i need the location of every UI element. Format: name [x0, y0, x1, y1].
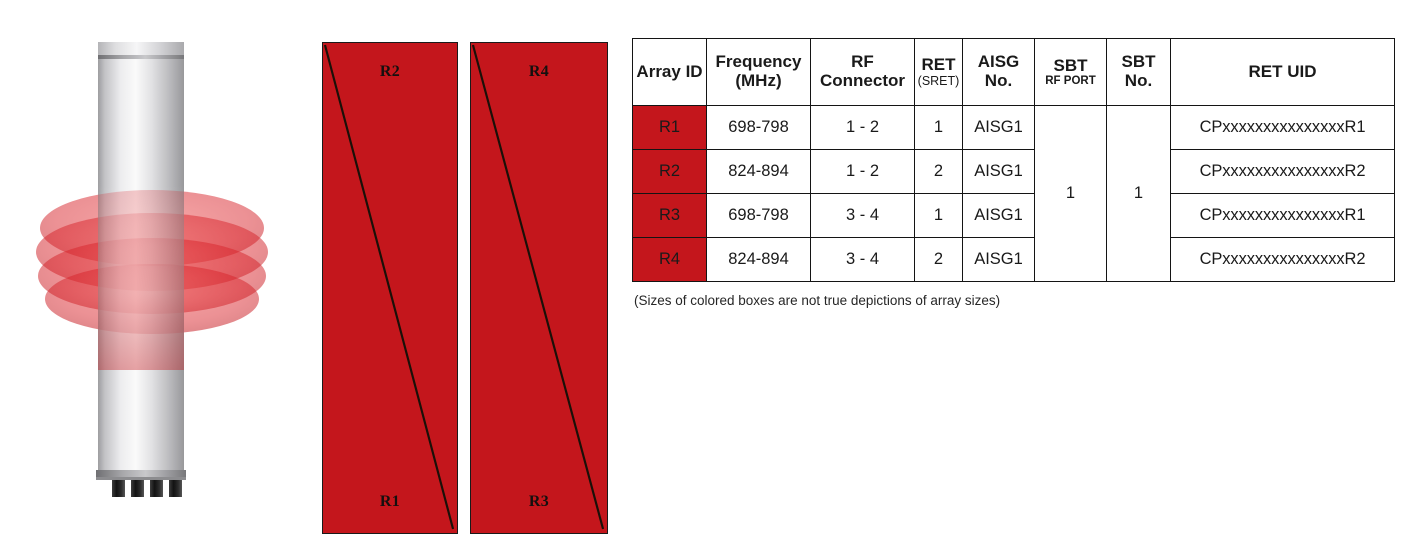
table-row: R3 698-798 3 - 4 1 AISG1 CPxxxxxxxxxxxxx…: [633, 194, 1395, 238]
header-ret-uid: RET UID: [1171, 39, 1395, 106]
header-array-id: Array ID: [633, 39, 707, 106]
header-ret-line1: RET: [922, 55, 956, 74]
array-configuration-table: Array ID Frequency (MHz) RF Connector RE…: [632, 38, 1394, 282]
panel-label-bottom-left: R1: [323, 493, 457, 511]
table-row: R2 824-894 1 - 2 2 AISG1 CPxxxxxxxxxxxxx…: [633, 150, 1395, 194]
table-row: R1 698-798 1 - 2 1 AISG1 1 1 CPxxxxxxxxx…: [633, 106, 1395, 150]
header-sbt-rf-port-line2: RF PORT: [1035, 75, 1106, 89]
cell-aisg-no: AISG1: [963, 106, 1035, 150]
header-sbt-no-line1: SBT: [1122, 52, 1156, 71]
cell-ret: 2: [915, 238, 963, 282]
cell-rf-connector: 3 - 4: [811, 238, 915, 282]
array-panel-left[interactable]: R2 R1: [322, 42, 458, 534]
header-frequency-line1: Frequency: [716, 52, 802, 71]
connector-stub: [169, 480, 182, 497]
table-header-row: Array ID Frequency (MHz) RF Connector RE…: [633, 39, 1395, 106]
header-rf-connector: RF Connector: [811, 39, 915, 106]
table-row: R4 824-894 3 - 4 2 AISG1 CPxxxxxxxxxxxxx…: [633, 238, 1395, 282]
header-ret-uid-label: RET UID: [1249, 62, 1317, 81]
cell-aisg-no: AISG1: [963, 194, 1035, 238]
header-sbt-rf-port-line1: SBT: [1054, 56, 1088, 75]
connector-stub: [150, 480, 163, 497]
cell-ret: 2: [915, 150, 963, 194]
cell-ret-uid: CPxxxxxxxxxxxxxxxR1: [1171, 194, 1395, 238]
panel-label-top-left: R2: [323, 63, 457, 81]
pole-top-cap: [98, 42, 184, 55]
antenna-illustration: [0, 0, 310, 543]
array-panel-right[interactable]: R4 R3: [470, 42, 608, 534]
cell-frequency: 824-894: [707, 238, 811, 282]
panel-label-bottom-right: R3: [471, 493, 607, 511]
pole-bottom-edge: [96, 477, 186, 480]
cell-frequency: 824-894: [707, 150, 811, 194]
config-table: Array ID Frequency (MHz) RF Connector RE…: [632, 38, 1395, 282]
antenna-illustration-svg: [0, 0, 310, 543]
header-sbt-no-line2: No.: [1107, 71, 1170, 91]
cell-aisg-no: AISG1: [963, 238, 1035, 282]
cell-sbt-no-merged: 1: [1107, 106, 1171, 282]
pole-top-band: [98, 55, 184, 59]
cell-array-id: R3: [633, 194, 707, 238]
panel-diagonal-left: [323, 43, 457, 533]
header-rf-connector-line1: RF: [851, 52, 874, 71]
connector-stub: [112, 480, 125, 497]
header-ret: RET (SRET): [915, 39, 963, 106]
cell-ret: 1: [915, 106, 963, 150]
cell-frequency: 698-798: [707, 106, 811, 150]
header-sbt-rf-port: SBT RF PORT: [1035, 39, 1107, 106]
header-aisg-line1: AISG: [978, 52, 1020, 71]
pole-front-overlay: [98, 190, 184, 370]
cell-rf-connector: 1 - 2: [811, 106, 915, 150]
header-aisg-line2: No.: [963, 71, 1034, 91]
header-sbt-no: SBT No.: [1107, 39, 1171, 106]
cell-rf-connector: 3 - 4: [811, 194, 915, 238]
cell-frequency: 698-798: [707, 194, 811, 238]
cell-array-id: R1: [633, 106, 707, 150]
table-footnote: (Sizes of colored boxes are not true dep…: [634, 293, 1000, 308]
array-panels: R2 R1 R4 R3: [322, 42, 622, 534]
cell-ret: 1: [915, 194, 963, 238]
panel-diagonal-right: [471, 43, 607, 533]
header-rf-connector-line2: Connector: [811, 71, 914, 91]
header-array-id-label: Array ID: [636, 62, 702, 81]
cell-ret-uid: CPxxxxxxxxxxxxxxxR2: [1171, 238, 1395, 282]
header-ret-sret: (SRET): [915, 74, 962, 89]
header-frequency-line2: (MHz): [707, 71, 810, 91]
header-aisg-no: AISG No.: [963, 39, 1035, 106]
cell-sbt-rf-port-merged: 1: [1035, 106, 1107, 282]
cell-ret-uid: CPxxxxxxxxxxxxxxxR1: [1171, 106, 1395, 150]
cell-ret-uid: CPxxxxxxxxxxxxxxxR2: [1171, 150, 1395, 194]
header-frequency: Frequency (MHz): [707, 39, 811, 106]
cell-array-id: R2: [633, 150, 707, 194]
connector-stub: [131, 480, 144, 497]
cell-aisg-no: AISG1: [963, 150, 1035, 194]
cell-array-id: R4: [633, 238, 707, 282]
panel-label-top-right: R4: [471, 63, 607, 81]
cell-rf-connector: 1 - 2: [811, 150, 915, 194]
